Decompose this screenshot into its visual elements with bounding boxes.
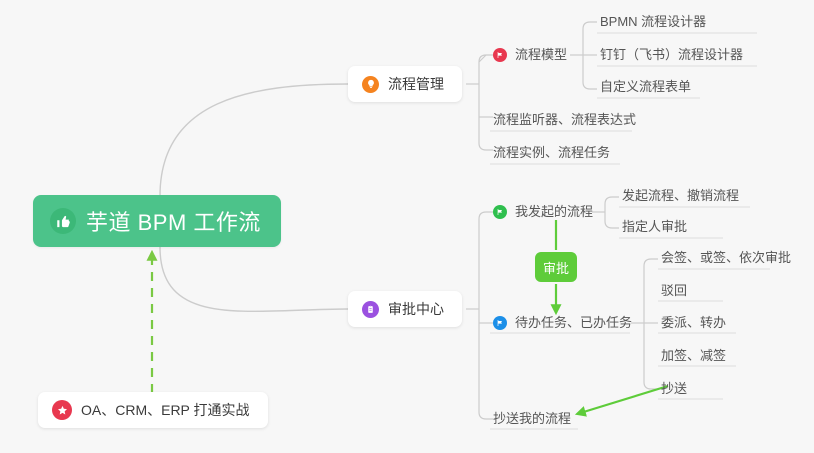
arrow-cc-to-cc-to-me bbox=[577, 386, 668, 414]
node-todo-done-task-label: 待办任务、已办任务 bbox=[515, 313, 632, 333]
node-instance-task-label: 流程实例、流程任务 bbox=[493, 143, 610, 163]
branch-approval-center[interactable]: 审批中心 bbox=[348, 291, 462, 327]
clipboard-icon bbox=[362, 301, 379, 318]
node-todo-done-task[interactable]: 待办任务、已办任务 bbox=[493, 313, 632, 333]
connector-todo-bracket bbox=[644, 259, 658, 389]
node-countersign-label: 会签、或签、依次审批 bbox=[661, 248, 791, 268]
node-custom-form[interactable]: 自定义流程表单 bbox=[600, 77, 691, 97]
branch-process-management[interactable]: 流程管理 bbox=[348, 66, 462, 102]
branch-process-management-label: 流程管理 bbox=[388, 74, 444, 94]
connector-pm-bracket bbox=[479, 55, 493, 150]
node-start-cancel-label: 发起流程、撤销流程 bbox=[622, 186, 739, 206]
node-cc-to-me[interactable]: 抄送我的流程 bbox=[493, 409, 571, 429]
node-cc[interactable]: 抄送 bbox=[661, 379, 687, 399]
node-my-initiated[interactable]: 我发起的流程 bbox=[493, 202, 593, 222]
flag-green-icon bbox=[493, 205, 507, 219]
flag-blue-icon bbox=[493, 316, 507, 330]
branch-approval-center-label: 审批中心 bbox=[388, 299, 444, 319]
connector-root-to-approval-center bbox=[160, 247, 348, 311]
node-custom-form-label: 自定义流程表单 bbox=[600, 77, 691, 97]
root-node[interactable]: 芋道 BPM 工作流 bbox=[33, 195, 281, 247]
node-bpmn-designer[interactable]: BPMN 流程设计器 bbox=[600, 12, 706, 32]
connector-ac-bracket bbox=[479, 212, 493, 419]
node-delegate-transfer-label: 委派、转办 bbox=[661, 313, 726, 333]
node-assignee-approval[interactable]: 指定人审批 bbox=[622, 217, 687, 237]
mindmap-canvas: 芋道 BPM 工作流 流程管理 流程模型 BPMN 流程设计器 钉钉（飞书）流程… bbox=[0, 0, 814, 453]
connector-root-to-process-management bbox=[160, 84, 348, 196]
callout-approval-label: 审批 bbox=[543, 258, 569, 277]
node-reject-label: 驳回 bbox=[661, 281, 687, 301]
node-start-cancel[interactable]: 发起流程、撤销流程 bbox=[622, 186, 739, 206]
node-listener-expression-label: 流程监听器、流程表达式 bbox=[493, 110, 636, 130]
callout-approval: 审批 bbox=[535, 252, 577, 282]
thumbs-up-icon bbox=[50, 208, 76, 234]
node-listener-expression[interactable]: 流程监听器、流程表达式 bbox=[493, 110, 636, 130]
node-countersign[interactable]: 会签、或签、依次审批 bbox=[661, 248, 791, 268]
star-icon bbox=[52, 400, 72, 420]
node-process-model-label: 流程模型 bbox=[515, 45, 567, 65]
node-cc-to-me-label: 抄送我的流程 bbox=[493, 409, 571, 429]
node-add-remove-sign[interactable]: 加签、减签 bbox=[661, 346, 726, 366]
node-instance-task[interactable]: 流程实例、流程任务 bbox=[493, 143, 610, 163]
connector-pm-bracket-part bbox=[479, 55, 486, 62]
flag-red-icon bbox=[493, 48, 507, 62]
root-label: 芋道 BPM 工作流 bbox=[86, 205, 261, 237]
node-process-model[interactable]: 流程模型 bbox=[493, 45, 567, 65]
node-assignee-approval-label: 指定人审批 bbox=[622, 217, 687, 237]
node-add-remove-sign-label: 加签、减签 bbox=[661, 346, 726, 366]
node-dingtalk-designer[interactable]: 钉钉（飞书）流程设计器 bbox=[600, 45, 743, 65]
node-my-initiated-label: 我发起的流程 bbox=[515, 202, 593, 222]
connector-model-bracket bbox=[583, 22, 597, 89]
connector-mine-bracket bbox=[605, 197, 619, 228]
node-reject[interactable]: 驳回 bbox=[661, 281, 687, 301]
node-oa-crm-erp[interactable]: OA、CRM、ERP 打通实战 bbox=[38, 392, 268, 428]
node-delegate-transfer[interactable]: 委派、转办 bbox=[661, 313, 726, 333]
node-cc-label: 抄送 bbox=[661, 379, 687, 399]
bulb-icon bbox=[362, 76, 379, 93]
node-oa-crm-erp-label: OA、CRM、ERP 打通实战 bbox=[81, 400, 250, 420]
node-dingtalk-designer-label: 钉钉（飞书）流程设计器 bbox=[600, 45, 743, 65]
node-bpmn-designer-label: BPMN 流程设计器 bbox=[600, 12, 706, 32]
